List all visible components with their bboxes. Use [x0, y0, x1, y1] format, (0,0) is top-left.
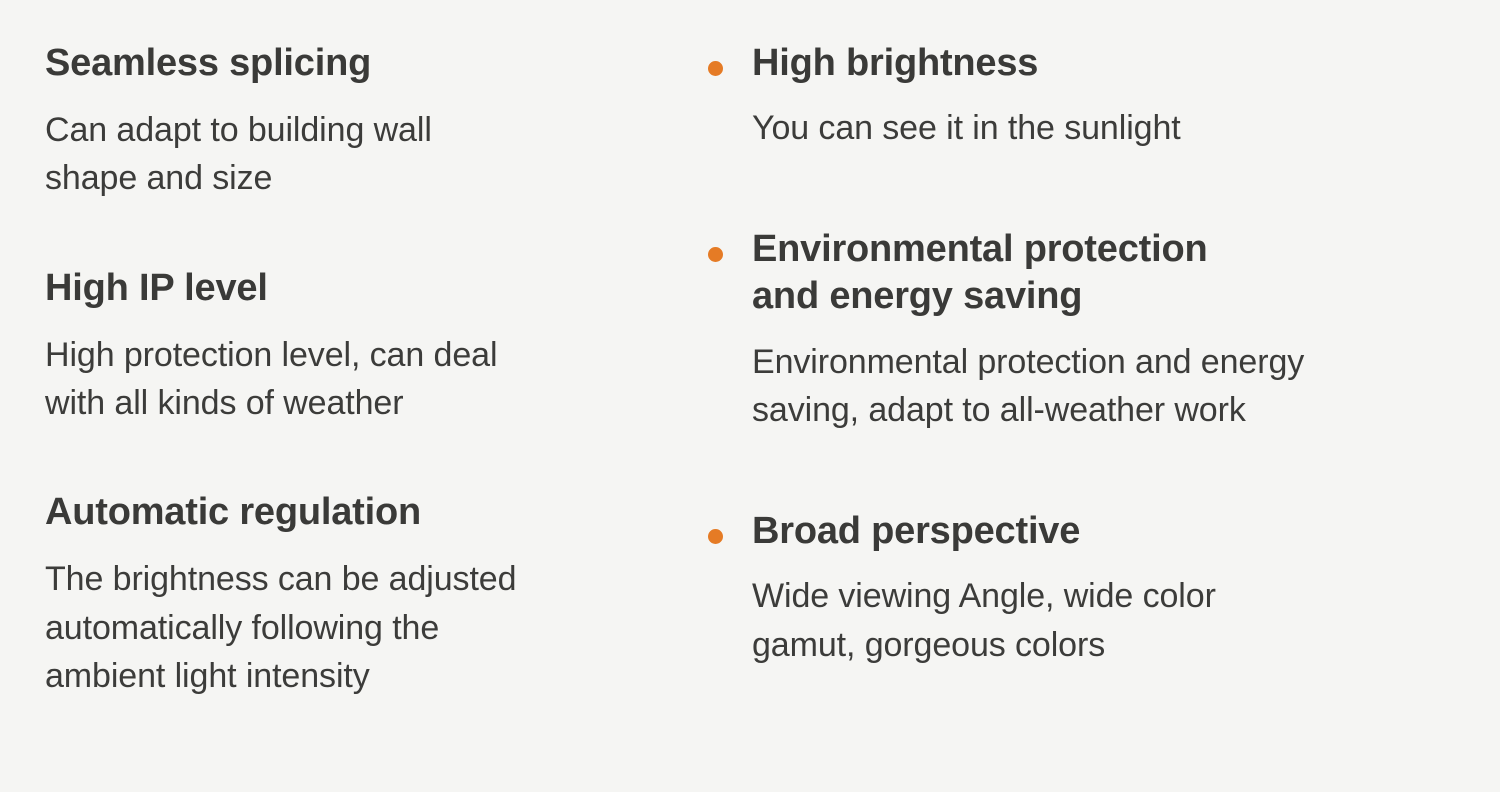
bullet-dot-icon — [708, 529, 723, 544]
feature-description: Environmental protection and energy savi… — [752, 321, 1500, 435]
feature-description: Can adapt to building wall shape and siz… — [45, 87, 690, 203]
feature-item-broad-perspective: Broad perspective Wide viewing Angle, wi… — [700, 508, 1500, 669]
feature-description: You can see it in the sunlight — [752, 87, 1500, 152]
feature-item-environmental-protection: Environmental protection and energy savi… — [700, 226, 1500, 434]
feature-column-right: High brightness You can see it in the su… — [690, 0, 1500, 792]
feature-title: Broad perspective — [752, 508, 1500, 555]
feature-title: Environmental protection and energy savi… — [752, 226, 1500, 320]
feature-column-left: Seamless splicing Can adapt to building … — [0, 0, 690, 792]
feature-description: High protection level, can deal with all… — [45, 312, 690, 428]
feature-item-high-ip-level: High IP level High protection level, can… — [45, 265, 690, 428]
feature-item-automatic-regulation: Automatic regulation The brightness can … — [45, 489, 690, 700]
feature-title: Automatic regulation — [45, 489, 690, 536]
feature-item-seamless-splicing: Seamless splicing Can adapt to building … — [45, 40, 690, 203]
feature-title: High IP level — [45, 265, 690, 312]
feature-highlights-board: Seamless splicing Can adapt to building … — [0, 0, 1500, 792]
feature-title: Seamless splicing — [45, 40, 690, 87]
bullet-dot-icon — [708, 247, 723, 262]
bullet-dot-icon — [708, 61, 723, 76]
feature-item-high-brightness: High brightness You can see it in the su… — [700, 40, 1500, 152]
feature-description: The brightness can be adjusted automatic… — [45, 536, 690, 700]
feature-title: High brightness — [752, 40, 1500, 87]
feature-description: Wide viewing Angle, wide color gamut, go… — [752, 555, 1500, 669]
